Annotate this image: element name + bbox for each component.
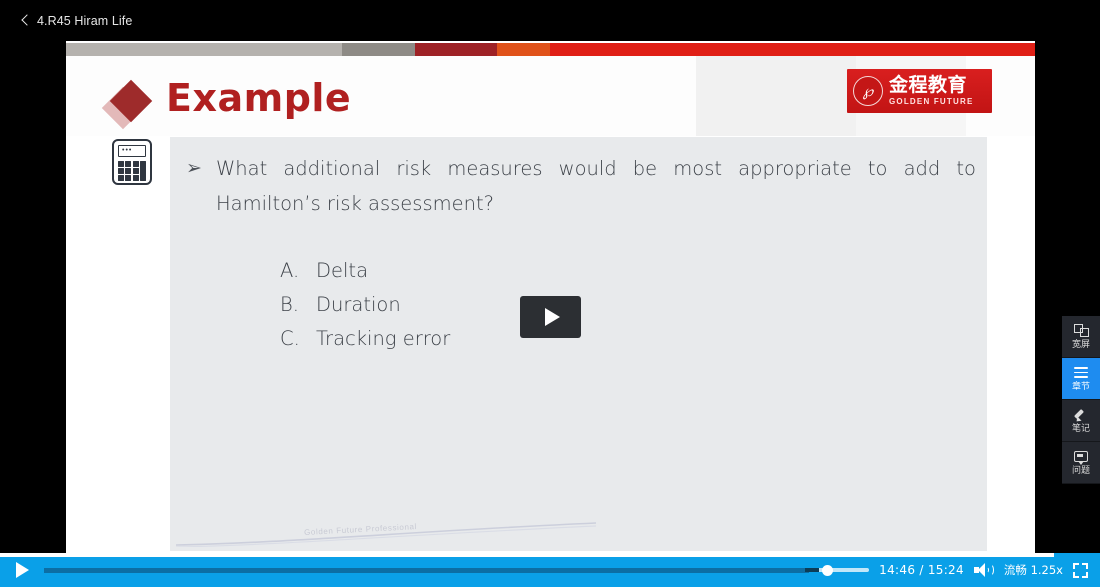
fullscreen-icon[interactable]: [1073, 563, 1088, 578]
answer-option-text: Delta: [316, 259, 368, 282]
play-triangle-icon: [545, 308, 560, 326]
color-strip-segment: [497, 43, 550, 56]
quality-speed-selector[interactable]: 流畅 1.25x: [1004, 562, 1063, 578]
side-toolbar-item-label: 宽屏: [1072, 340, 1090, 350]
seek-bar-fill: [44, 568, 809, 573]
diamond-bullet-icon: [104, 80, 162, 128]
questions-comment-icon-wrap: [1074, 449, 1088, 464]
answer-option-text: Duration: [316, 293, 401, 316]
side-toolbar-item-3[interactable]: 笔记: [1062, 400, 1100, 442]
answer-option: A.Delta: [280, 259, 450, 282]
volume-slider[interactable]: [817, 568, 869, 572]
control-bar-right-group: 14:46 / 15:24 流畅 1.25x: [817, 562, 1100, 578]
chapters-menu-icon: [1074, 367, 1088, 378]
brand-logo: ℘ 金程教育 GOLDEN FUTURE: [847, 69, 992, 113]
answer-option-text: Tracking error: [316, 327, 450, 350]
answer-option-letter: A.: [280, 259, 316, 282]
slide-watermark: Golden Future Professional: [176, 521, 596, 547]
volume-slider-knob[interactable]: [822, 565, 833, 576]
color-strip-segment: [342, 43, 415, 56]
chevron-left-icon[interactable]: [20, 13, 30, 29]
time-display: 14:46 / 15:24: [879, 563, 964, 577]
decor-box-1: [696, 56, 856, 136]
center-play-button[interactable]: [520, 296, 581, 338]
side-toolbar-item-label: 章节: [1072, 382, 1090, 392]
page-title: 4.R45 Hiram Life: [37, 14, 132, 28]
widescreen-icon: [1074, 324, 1089, 338]
logo-seal-icon: ℘: [853, 76, 883, 106]
answer-option-letter: C.: [280, 327, 316, 350]
chapters-menu-icon-wrap: [1074, 365, 1088, 380]
side-toolbar-item-2[interactable]: 章节: [1062, 358, 1100, 400]
video-progress-track[interactable]: [0, 553, 1100, 557]
question-text: What additional risk measures would be m…: [216, 151, 976, 221]
video-stage[interactable]: Example ℘ 金程教育 GOLDEN FUTURE •••: [0, 41, 1100, 553]
answer-option: B.Duration: [280, 293, 450, 316]
notes-pencil-icon: [1074, 408, 1088, 422]
question-block: ➢ What additional risk measures would be…: [186, 151, 976, 221]
question-bullet-icon: ➢: [186, 151, 216, 221]
side-toolbar-item-label: 问题: [1072, 466, 1090, 476]
widescreen-icon-wrap: [1074, 323, 1089, 338]
answer-options: A.DeltaB.DurationC.Tracking error: [280, 259, 450, 361]
video-player-app: 4.R45 Hiram Life Example ℘ 金程教育 GOLDEN F…: [0, 0, 1100, 587]
answer-option-letter: B.: [280, 293, 316, 316]
seek-bar[interactable]: [44, 568, 809, 573]
logo-english-name: GOLDEN FUTURE: [889, 98, 974, 106]
volume-slider-prefix: [805, 568, 819, 572]
side-toolbar-item-4[interactable]: 问题: [1062, 442, 1100, 484]
player-control-bar: 14:46 / 15:24 流畅 1.25x: [0, 553, 1100, 587]
notes-pencil-icon-wrap: [1074, 407, 1088, 422]
color-strip-segment: [415, 43, 497, 56]
video-progress-fill: [0, 553, 1054, 557]
calculator-icon: •••: [112, 139, 152, 185]
top-bar: 4.R45 Hiram Life: [0, 0, 1100, 41]
question-panel: ➢ What additional risk measures would be…: [170, 137, 987, 551]
slide-color-strip: [66, 43, 1035, 56]
volume-icon[interactable]: [974, 562, 994, 578]
slide-title: Example: [166, 76, 351, 120]
questions-comment-icon: [1074, 451, 1088, 462]
color-strip-segment: [66, 43, 342, 56]
side-toolbar-item-label: 笔记: [1072, 424, 1090, 434]
slide-header: Example ℘ 金程教育 GOLDEN FUTURE: [66, 56, 1035, 136]
side-toolbar-item-1[interactable]: 宽屏: [1062, 316, 1100, 358]
play-button[interactable]: [0, 553, 44, 587]
logo-chinese-name: 金程教育: [889, 76, 974, 95]
color-strip-segment: [550, 43, 1035, 56]
side-toolbar: 宽屏章节笔记问题: [1062, 316, 1100, 484]
answer-option: C.Tracking error: [280, 327, 450, 350]
play-icon: [16, 562, 29, 578]
